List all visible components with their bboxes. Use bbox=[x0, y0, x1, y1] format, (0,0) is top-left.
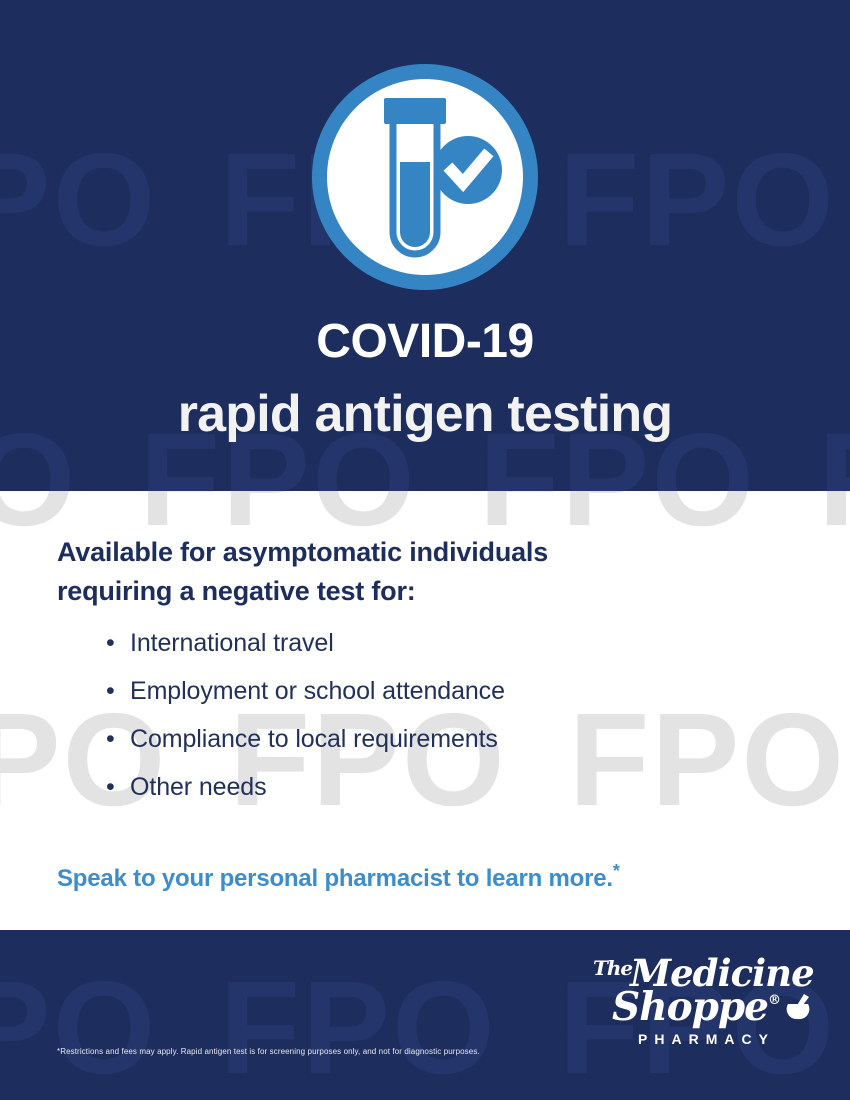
benefits-list: • International travel • Employment or s… bbox=[100, 631, 800, 823]
list-item: • Compliance to local requirements bbox=[100, 727, 800, 752]
list-item-label: Other needs bbox=[130, 773, 267, 801]
hero-section: FPOFPOFPOFPO FPOFPOFPOFPO CO bbox=[0, 0, 850, 491]
logo-line-2: Shoppe® bbox=[593, 990, 813, 1026]
logo-wordmark: TheMedicine Shoppe® bbox=[593, 956, 813, 1026]
page-subtitle: rapid antigen testing bbox=[0, 388, 850, 440]
footer-section: FPOFPOFPOFPO *Restrictions and fees may … bbox=[0, 930, 850, 1100]
registered-trademark-icon: ® bbox=[768, 993, 780, 1008]
lede-line-1: Available for asymptomatic individuals bbox=[57, 533, 757, 572]
disclaimer-text: *Restrictions and fees may apply. Rapid … bbox=[57, 1047, 480, 1056]
mortar-and-pestle-icon bbox=[785, 993, 811, 1023]
list-item-label: Compliance to local requirements bbox=[130, 725, 498, 753]
logo-the: The bbox=[593, 956, 632, 980]
bullet-icon: • bbox=[106, 727, 115, 752]
list-item: • International travel bbox=[100, 631, 800, 656]
watermark-text: FPO bbox=[219, 954, 496, 1100]
watermark-text: FPO bbox=[818, 491, 850, 553]
list-item-label: Employment or school attendance bbox=[130, 677, 505, 705]
logo-tagline: PHARMACY bbox=[593, 1031, 813, 1047]
page-title: COVID-19 bbox=[0, 318, 850, 366]
footnote-marker: * bbox=[613, 861, 620, 881]
body-section: FPOFPOFPOFPO FPOFPOFPOFPO Available for … bbox=[0, 491, 850, 930]
list-item: • Employment or school attendance bbox=[100, 679, 800, 704]
covid-testing-poster: FPOFPOFPOFPO FPOFPOFPOFPO CO bbox=[0, 0, 850, 1100]
bullet-icon: • bbox=[106, 775, 115, 800]
cta-label: Speak to your personal pharmacist to lea… bbox=[57, 865, 613, 892]
lede-line-2: requiring a negative test for: bbox=[57, 572, 757, 611]
brand-logo: TheMedicine Shoppe® PHARMACY bbox=[593, 956, 813, 1047]
logo-word-2: Shoppe bbox=[612, 984, 768, 1030]
list-item-label: International travel bbox=[130, 629, 334, 657]
call-to-action: Speak to your personal pharmacist to lea… bbox=[57, 861, 620, 893]
test-tube-check-icon bbox=[306, 58, 544, 296]
watermark-text: FPO bbox=[0, 126, 157, 273]
bullet-icon: • bbox=[106, 679, 115, 704]
watermark-text: FPO bbox=[0, 954, 157, 1100]
bullet-icon: • bbox=[106, 631, 115, 656]
watermark-text: FPO bbox=[559, 126, 836, 273]
lede-paragraph: Available for asymptomatic individuals r… bbox=[57, 533, 757, 611]
list-item: • Other needs bbox=[100, 775, 800, 800]
